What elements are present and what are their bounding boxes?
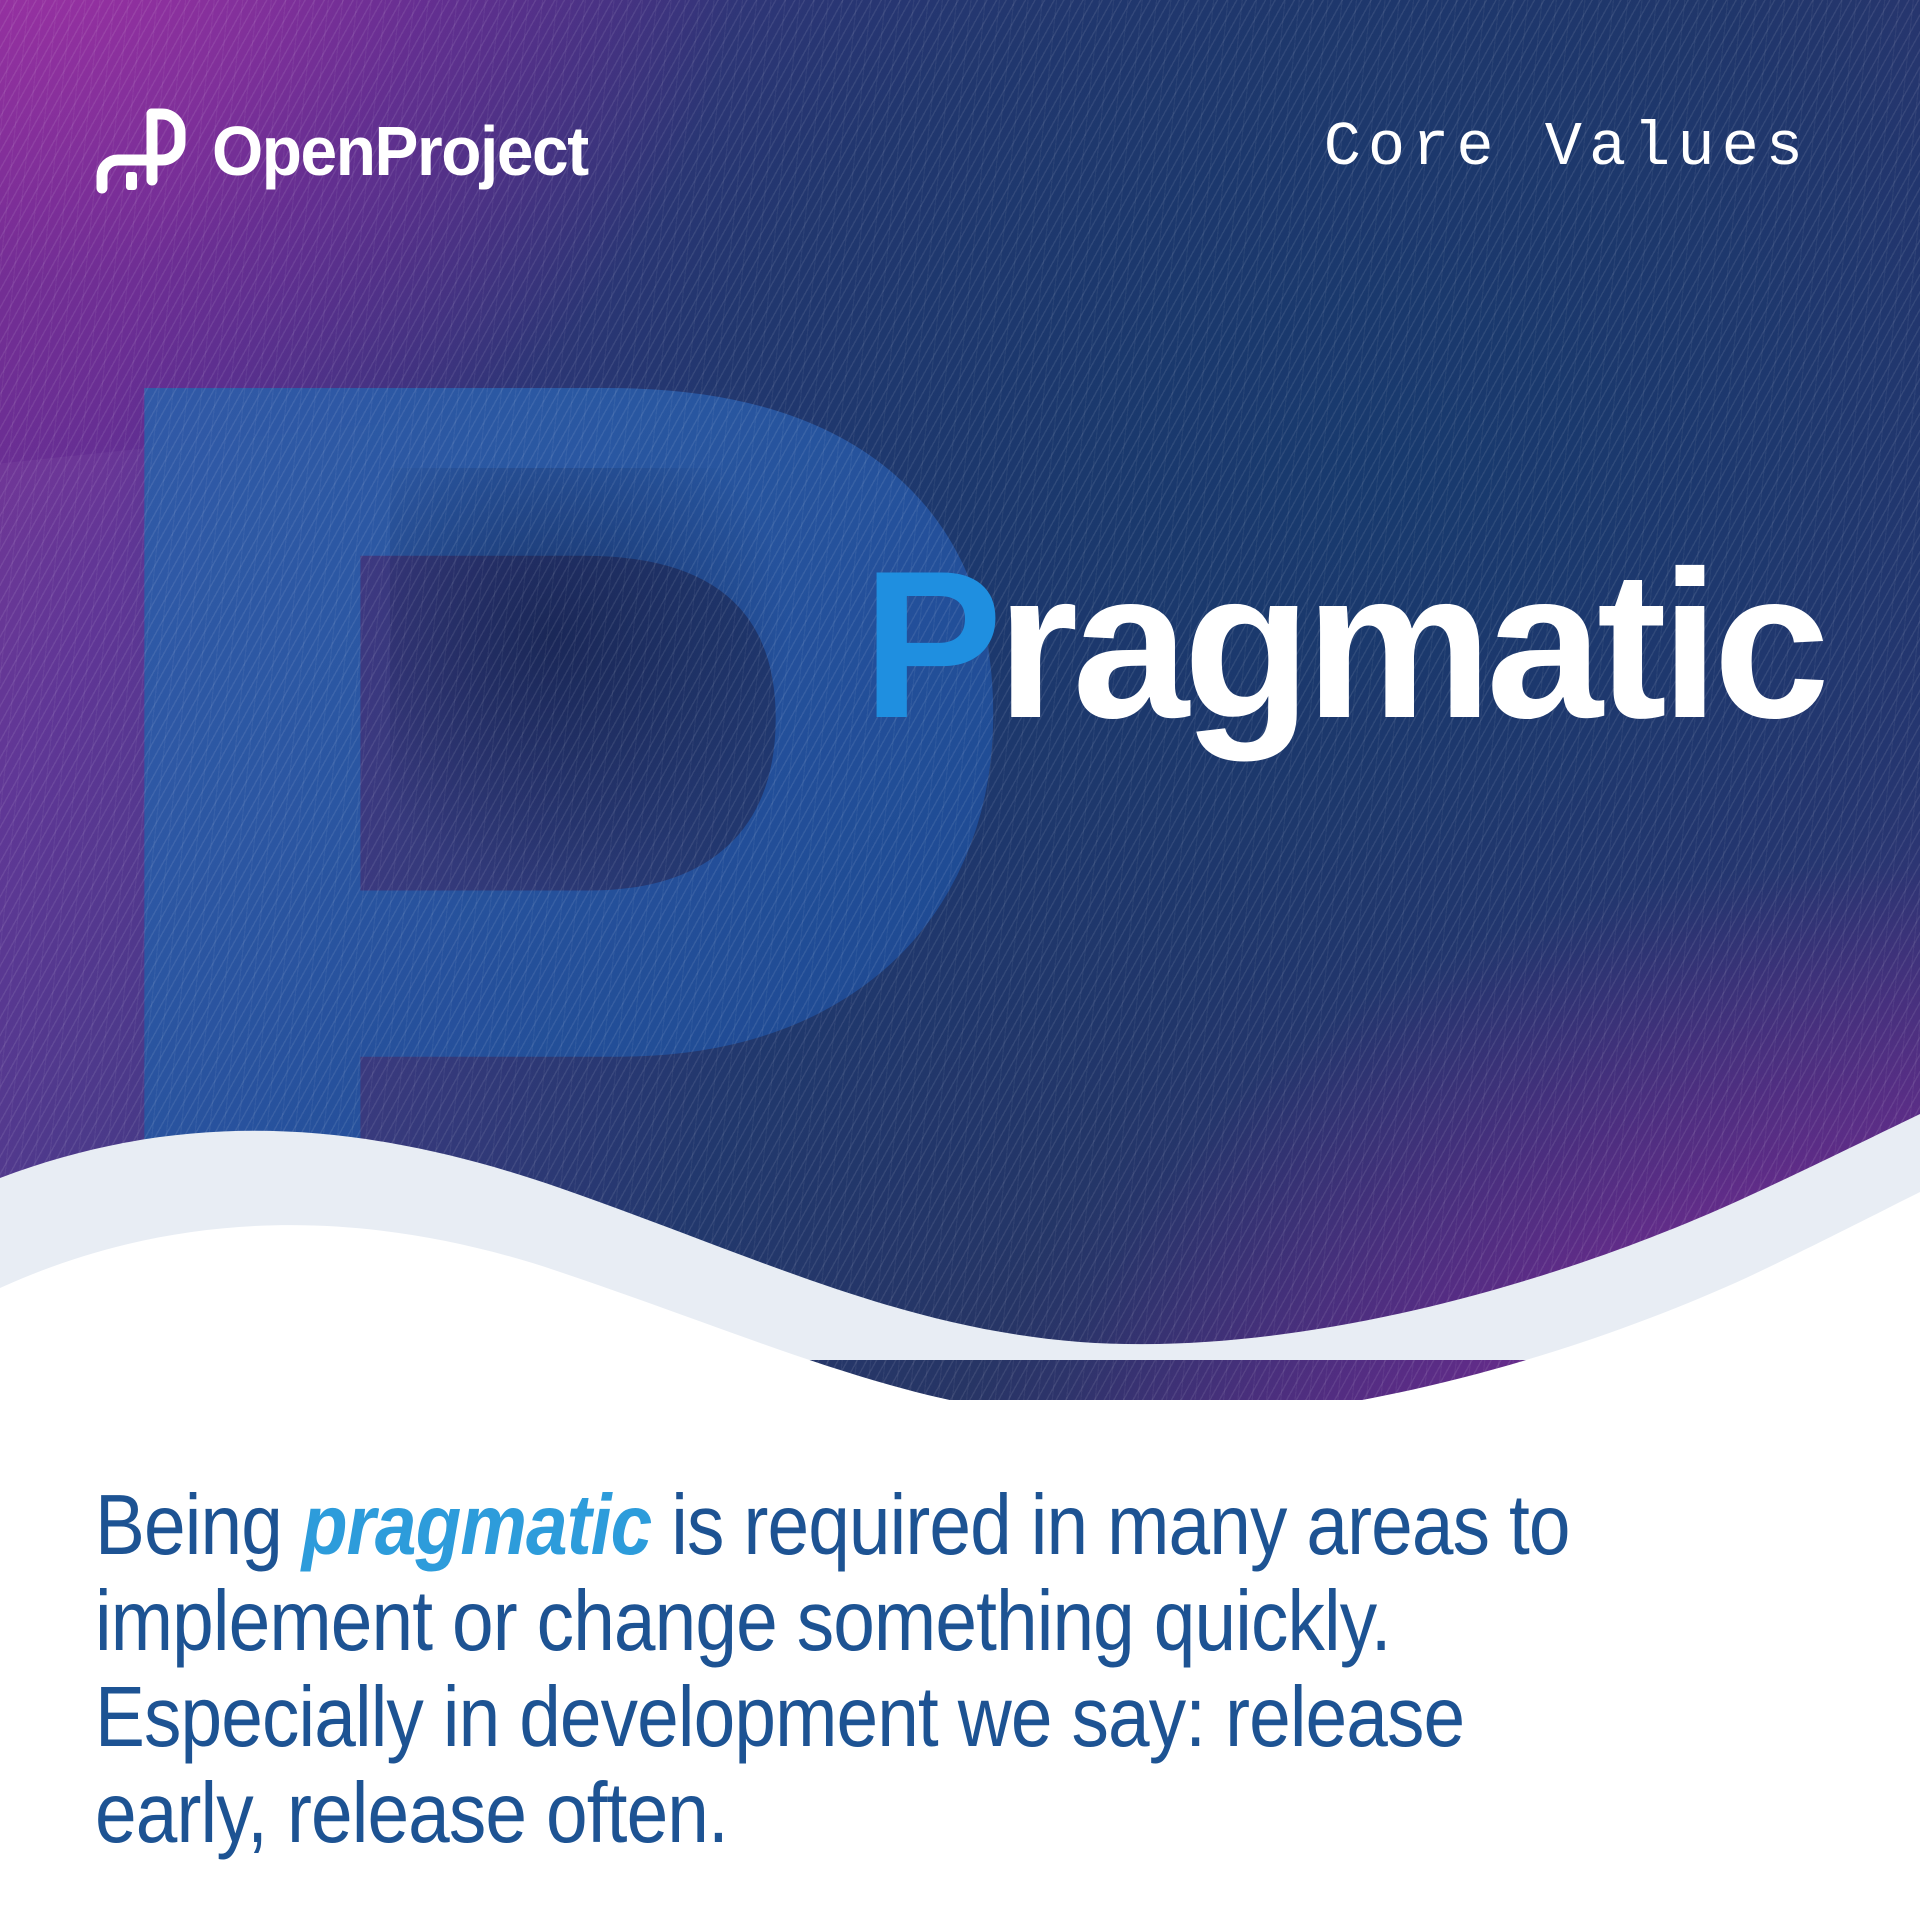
brand-wordmark: OpenProject	[212, 111, 588, 191]
core-values-card: P OpenProject Core Values Pragmatic	[0, 0, 1920, 1920]
page-title: Pragmatic	[863, 540, 1824, 750]
wave-divider-white	[0, 1120, 1920, 1440]
description-text: Being pragmatic is required in many area…	[95, 1478, 1626, 1862]
brand-lockup[interactable]: OpenProject	[90, 108, 612, 194]
description-lead: Being	[95, 1478, 302, 1573]
section-kicker: Core Values	[1324, 112, 1810, 183]
headline-rest: ragmatic	[997, 527, 1824, 762]
headline-accent-letter: P	[863, 527, 997, 762]
openproject-logo-icon	[90, 108, 186, 194]
description-emphasis: pragmatic	[302, 1478, 652, 1573]
